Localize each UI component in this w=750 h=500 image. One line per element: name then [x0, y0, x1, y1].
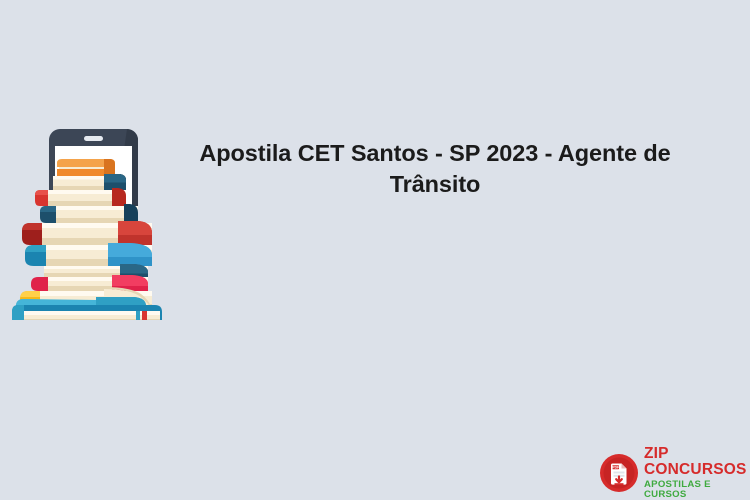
book-navy-cream — [53, 174, 126, 190]
book-orange-top — [57, 159, 115, 176]
page-canvas: Apostila CET Santos - SP 2023 - Agente d… — [0, 0, 750, 500]
svg-text:PDF: PDF — [612, 466, 619, 470]
pdf-download-icon: PDF — [600, 454, 638, 492]
book-blue-wide — [25, 243, 152, 266]
book-darkred-wide — [22, 221, 152, 245]
brand-text-block: ZIP CONCURSOS APOSTILAS E CURSOS — [644, 446, 747, 499]
book-bottom-platform — [12, 305, 168, 320]
brand-logo[interactable]: PDF ZIP CONCURSOS APOSTILAS E CURSOS — [600, 452, 740, 494]
book-red-upper — [35, 188, 126, 206]
book-stack-illustration — [8, 108, 178, 320]
page-title: Apostila CET Santos - SP 2023 - Agente d… — [190, 138, 680, 200]
book-navy-mid — [40, 204, 138, 223]
book-crimson — [31, 275, 148, 291]
brand-name: ZIP CONCURSOS — [644, 446, 747, 477]
brand-tagline: APOSTILAS E CURSOS — [644, 480, 747, 499]
book-stack-svg — [8, 108, 178, 320]
bookmark-blue — [136, 311, 140, 320]
bookmark-red — [142, 311, 147, 320]
